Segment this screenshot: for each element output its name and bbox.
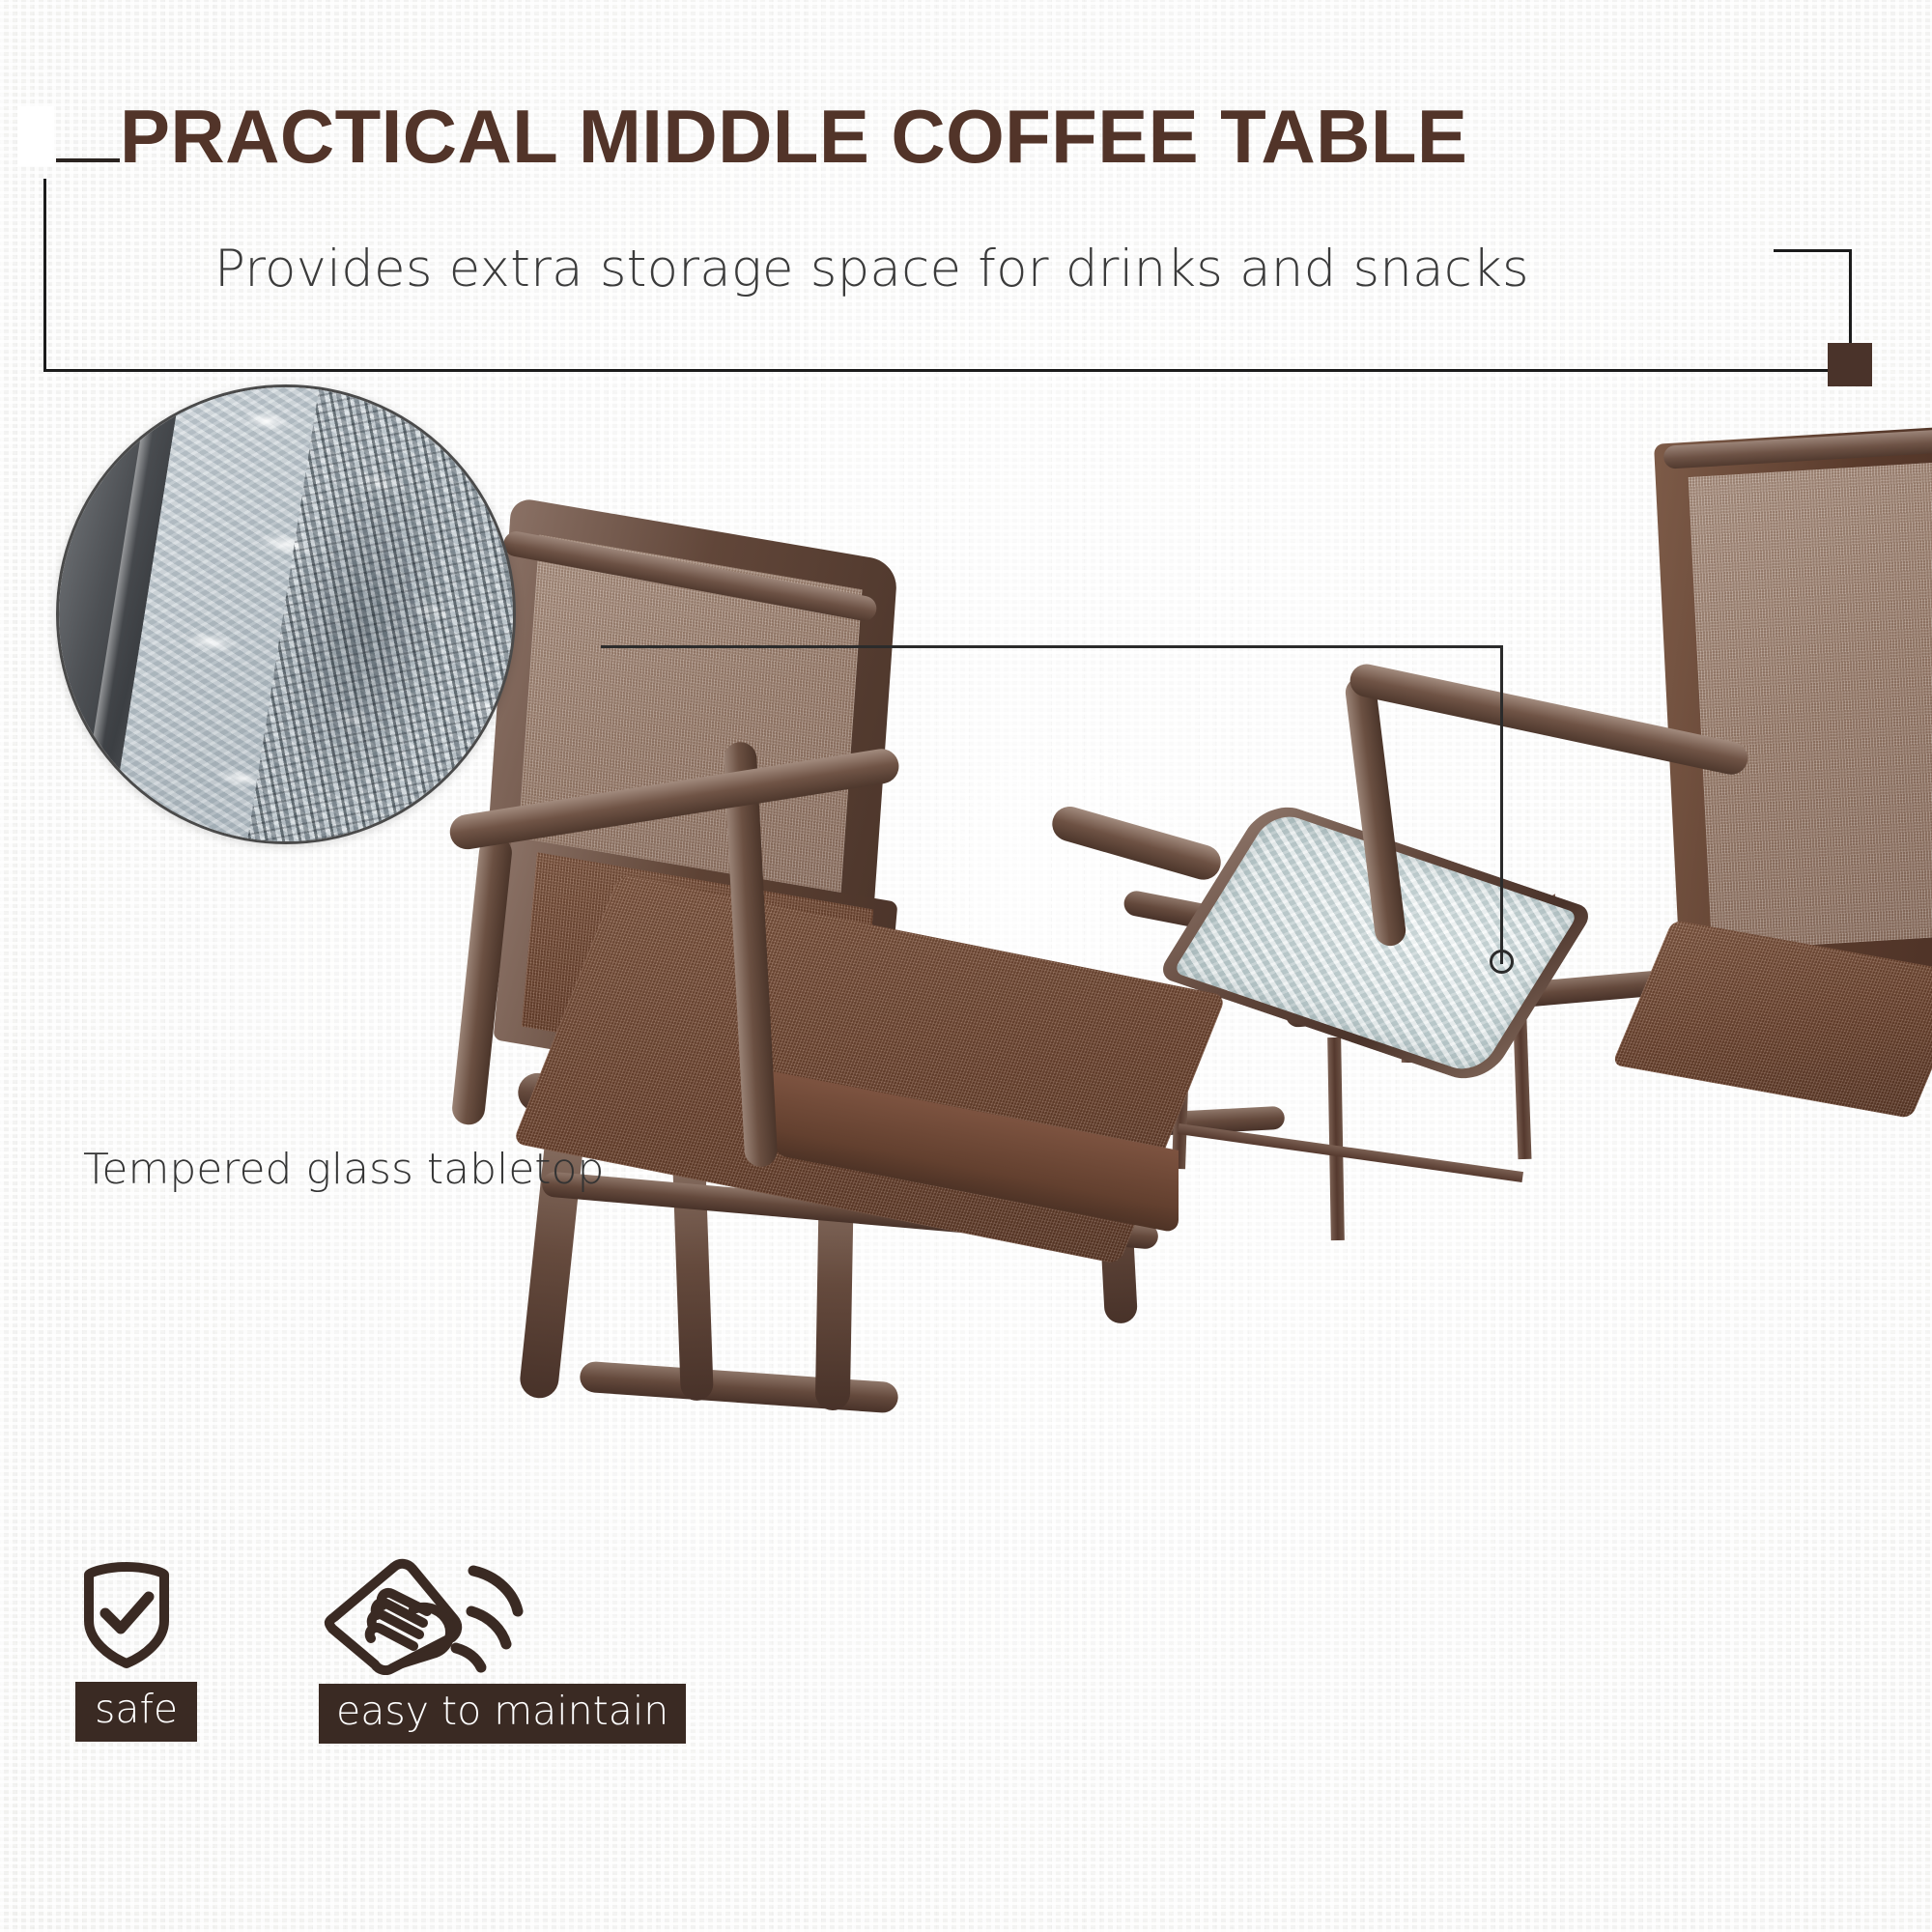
leader-line-horizontal [601,645,1503,648]
inset-caption: Tempered glass tabletop [83,1145,682,1194]
leader-line-dot [1490,950,1514,974]
right-chair-back-mesh [1689,462,1932,951]
glider-base-left-foot [579,1361,898,1414]
table-leg-front-right [1327,1037,1345,1240]
feature-badge-safe: safe [75,1561,197,1742]
hand-wipe-cloth-icon [319,1555,686,1680]
shield-check-icon [75,1561,197,1674]
badge-label-safe: safe [75,1682,197,1742]
magnified-circle-inset [56,384,516,844]
leader-line-vertical [1500,645,1503,964]
feature-badge-easy-to-maintain: easy to maintain [319,1555,686,1744]
left-chair-armrest-right [1048,803,1225,884]
badge-label-easy-to-maintain: easy to maintain [319,1684,686,1744]
product-photo-scene [0,0,1932,1932]
table-stretcher-bar [1178,1123,1523,1182]
